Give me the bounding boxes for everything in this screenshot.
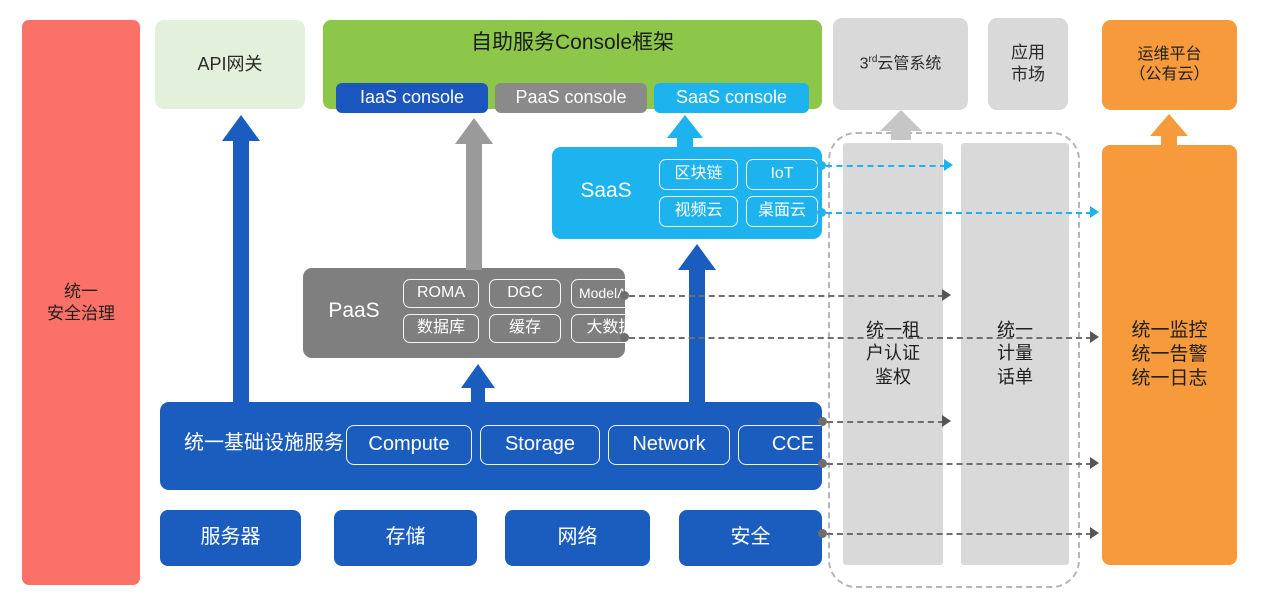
shared-tenant-auth-column: 统一租 户认证 鉴权: [843, 143, 943, 565]
saas-layer-label: SaaS: [566, 178, 646, 205]
connector-paas-to-ops: [629, 337, 1092, 339]
ops-capabilities-panel: 统一监控 统一告警 统一日志: [1102, 145, 1237, 565]
connector-saas-to-ops: [826, 212, 1092, 214]
connector-arrowhead-paas-auth: [942, 289, 951, 301]
saas-layer: SaaS 区块链 IoT 视频云 桌面云: [552, 147, 822, 239]
connector-infra-to-auth: [827, 421, 944, 423]
paas-service-roma[interactable]: ROMA: [403, 279, 479, 308]
connector-dot-paas-ops: [620, 333, 629, 342]
paas-layer-label: PaaS: [313, 298, 395, 325]
arrow-infra-to-saas: [678, 244, 716, 404]
connector-dot-paas-auth: [620, 291, 629, 300]
app-market-box: 应用 市场: [988, 18, 1068, 110]
infra-service-storage[interactable]: Storage: [480, 425, 600, 465]
connector-arrowhead-infra-auth: [942, 415, 951, 427]
api-gateway-box: API网关: [155, 20, 305, 109]
arrow-infra-to-api-gateway: [222, 115, 260, 405]
iaas-console-chip[interactable]: IaaS console: [336, 83, 488, 113]
connector-arrowhead-paas-ops: [1090, 331, 1099, 343]
connector-saas-to-auth: [826, 165, 946, 167]
unified-infrastructure-bar: 统一基础设施服务 Compute Storage Network CCE: [160, 402, 822, 490]
resource-box-server: 服务器: [160, 510, 301, 566]
third-party-cloud-mgmt-box: 3rd云管系统: [833, 18, 968, 110]
connector-dot-saas-ops: [817, 208, 826, 217]
paas-service-modelarts[interactable]: ModelArts: [571, 279, 650, 308]
paas-service-dgc[interactable]: DGC: [489, 279, 561, 308]
infra-service-compute[interactable]: Compute: [346, 425, 472, 465]
security-governance-panel: 统一 安全治理: [22, 20, 140, 585]
paas-console-chip[interactable]: PaaS console: [495, 83, 647, 113]
shared-metering-billing-column: 统一 计量 话单: [961, 143, 1069, 565]
saas-service-iot[interactable]: IoT: [746, 159, 818, 190]
infrastructure-label: 统一基础设施服务: [174, 431, 354, 457]
arrow-capabilities-to-ops-platform: [1150, 114, 1188, 147]
infra-service-network[interactable]: Network: [608, 425, 730, 465]
connector-dot-saas-auth: [817, 161, 826, 170]
connector-arrowhead-saas-auth: [944, 159, 953, 171]
resource-box-network: 网络: [505, 510, 650, 566]
resource-box-storage: 存储: [334, 510, 477, 566]
paas-layer: PaaS ROMA DGC ModelArts 数据库 缓存 大数据: [303, 268, 625, 358]
arrow-infra-to-paas: [461, 364, 495, 404]
saas-console-chip[interactable]: SaaS console: [654, 83, 809, 113]
connector-resources-to-ops: [827, 533, 1092, 535]
architecture-diagram: 统一 安全治理 API网关 自助服务Console框架 IaaS console…: [0, 0, 1265, 605]
ops-platform-box: 运维平台 （公有云）: [1102, 20, 1237, 110]
arrow-paas-to-console: [455, 118, 493, 270]
connector-arrowhead-infra-ops: [1090, 457, 1099, 469]
resource-box-security: 安全: [679, 510, 822, 566]
connector-dot-infra-auth: [818, 417, 827, 426]
connector-dot-resources-ops: [818, 529, 827, 538]
connector-infra-to-ops: [827, 463, 1092, 465]
saas-service-video-cloud[interactable]: 视频云: [659, 196, 738, 227]
self-service-console-frame: 自助服务Console框架 IaaS console PaaS console …: [323, 20, 822, 109]
connector-arrowhead-saas-ops: [1090, 206, 1099, 218]
saas-service-blockchain[interactable]: 区块链: [659, 159, 738, 190]
arrow-saas-to-console: [667, 115, 703, 149]
saas-service-desktop-cloud[interactable]: 桌面云: [746, 196, 818, 227]
arrow-shared-to-third-party: [880, 110, 922, 140]
connector-arrowhead-resources-ops: [1090, 527, 1099, 539]
connector-paas-to-auth: [629, 295, 944, 297]
connector-dot-infra-ops: [818, 459, 827, 468]
console-frame-title: 自助服务Console框架: [323, 30, 822, 57]
paas-service-cache[interactable]: 缓存: [489, 314, 561, 343]
paas-service-database[interactable]: 数据库: [403, 314, 479, 343]
third-party-label: 3rd云管系统: [860, 54, 942, 75]
